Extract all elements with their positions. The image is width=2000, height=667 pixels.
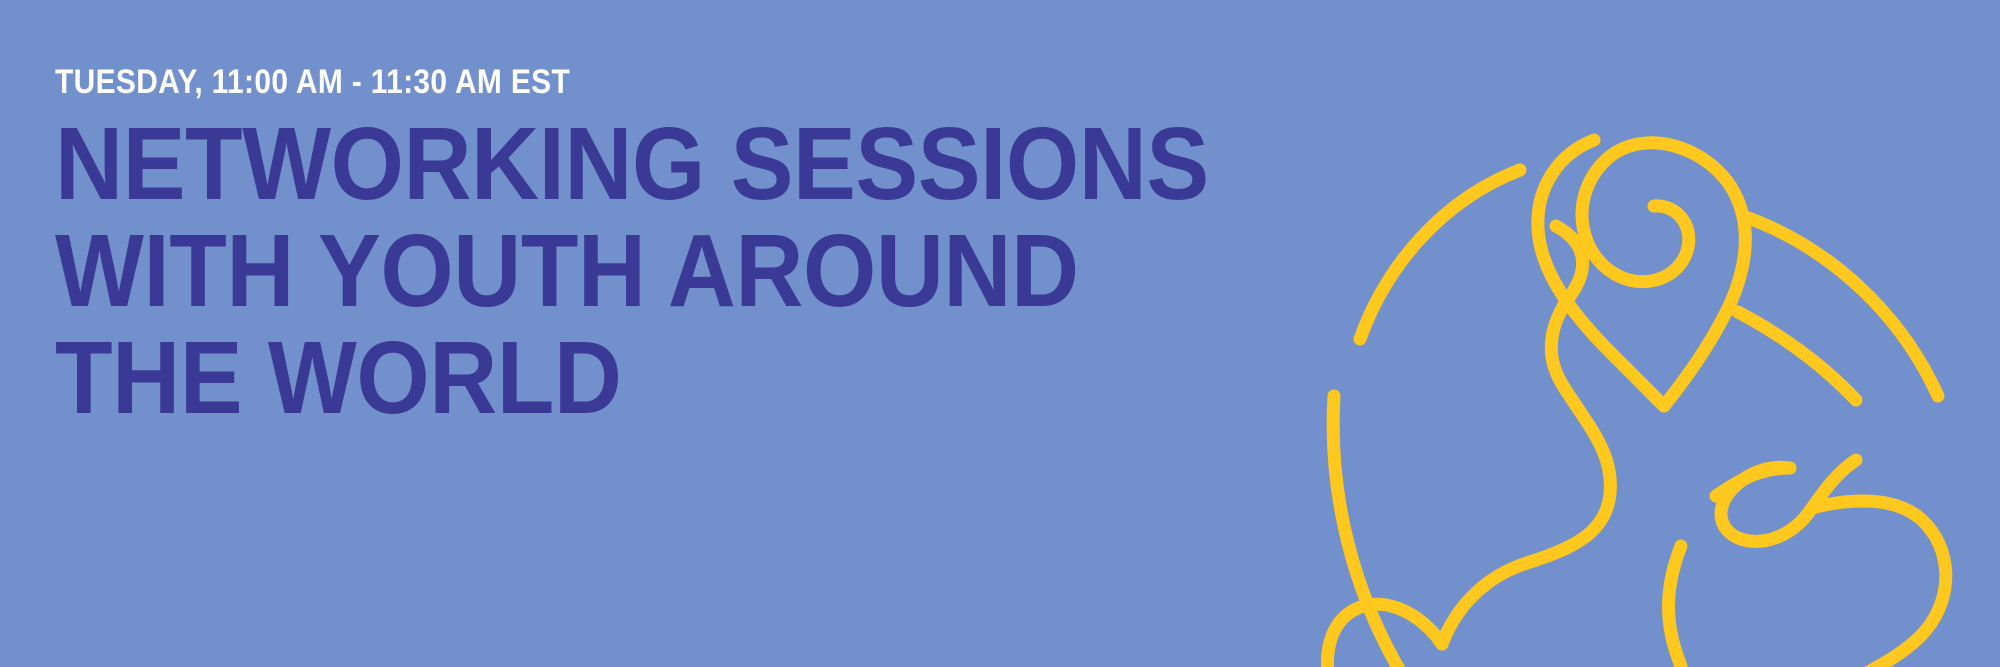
continent-line-center	[1669, 546, 1689, 667]
headline-line-3: THE WORLD	[55, 324, 1089, 431]
continent-line-right-sweep	[1754, 501, 1946, 667]
globe-outline-right	[1743, 216, 1938, 396]
headline-line-2: WITH YOUTH AROUND	[55, 217, 1089, 324]
globe-line-art	[1398, 96, 2000, 667]
event-banner: TUESDAY, 11:00 AM - 11:30 AM EST NETWORK…	[0, 0, 2000, 667]
continent-line-lower-left	[1327, 604, 1442, 667]
globe-outline-upper-left	[1360, 170, 1520, 339]
continent-line-right-loop	[1721, 460, 1856, 541]
location-pin-outline	[1538, 140, 1745, 406]
event-time-label: TUESDAY, 11:00 AM - 11:30 AM EST	[55, 62, 1049, 102]
globe-meridian-fragment	[1738, 312, 1856, 400]
continent-line-right-bow	[1716, 468, 1790, 496]
globe-outline-lower-left	[1333, 396, 1502, 667]
continent-line-left	[1442, 226, 1610, 644]
banner-text-block: TUESDAY, 11:00 AM - 11:30 AM EST NETWORK…	[55, 62, 1185, 431]
headline-line-1: NETWORKING SESSIONS	[55, 110, 1089, 217]
page-title: NETWORKING SESSIONS WITH YOUTH AROUND TH…	[55, 110, 1185, 431]
